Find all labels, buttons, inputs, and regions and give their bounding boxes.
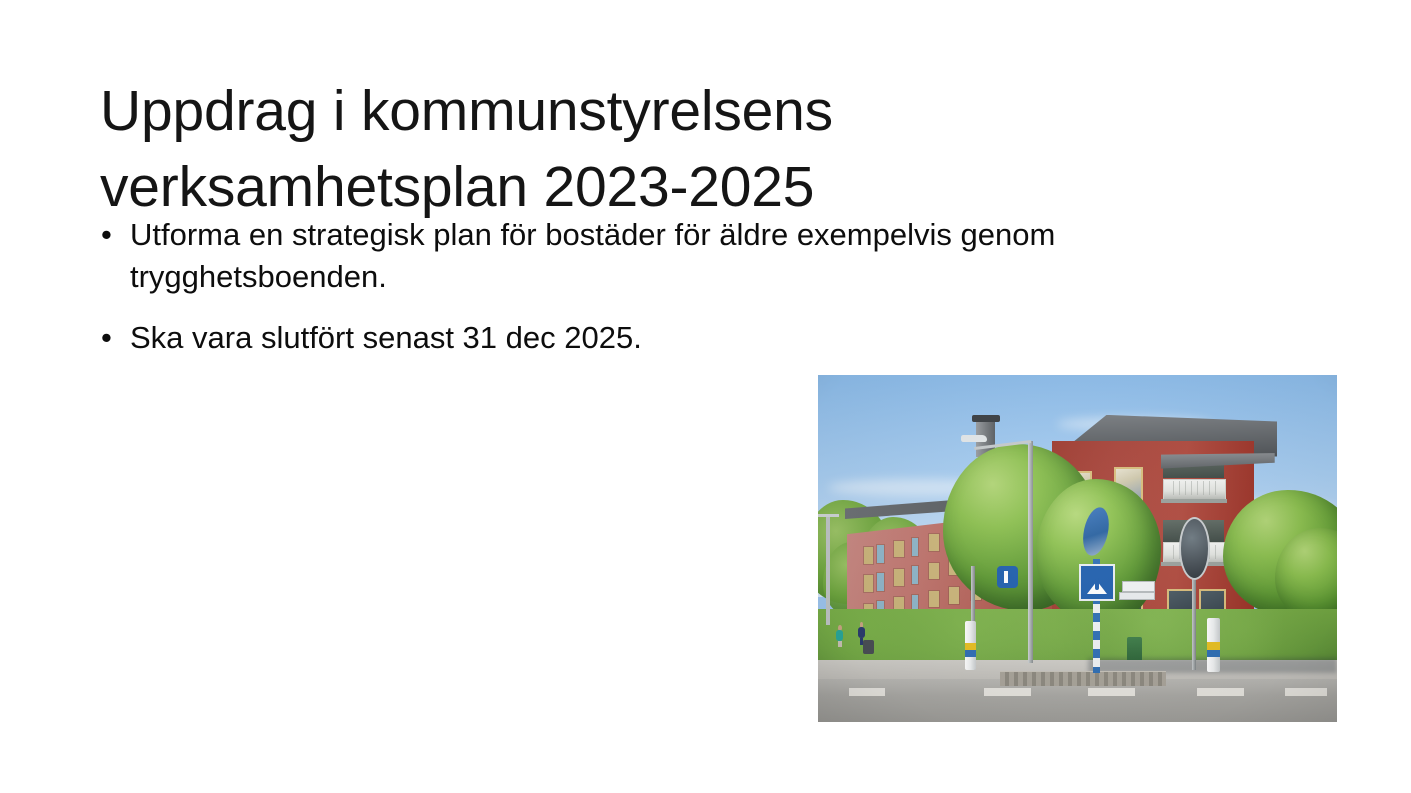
- photo-scene: [818, 375, 1337, 722]
- street-lamp-pole: [1028, 441, 1033, 663]
- bollard-band-yellow: [965, 643, 976, 650]
- slide-canvas: Uppdrag i kommunstyrelsens verksamhetspl…: [0, 0, 1411, 793]
- crosswalk-stripe: [1285, 688, 1327, 696]
- balcony-slab: [1161, 499, 1227, 503]
- crossing-sign-pedestrian: [1095, 578, 1099, 590]
- bullet-point-icon: •: [101, 317, 112, 359]
- pedestrian-refuge-island: [1000, 671, 1166, 686]
- bullet-list: • Utforma en strategisk plan för bostäde…: [97, 214, 1297, 359]
- crosswalk-stripe: [1088, 688, 1135, 696]
- street-name-sign: [1122, 581, 1156, 591]
- waste-bin: [1127, 637, 1143, 660]
- parking-sign-icon: [997, 566, 1019, 588]
- crosswalk-stripe: [849, 688, 885, 696]
- window: [864, 547, 873, 564]
- window: [864, 575, 873, 592]
- crosswalk-stripe: [984, 688, 1031, 696]
- bullet-text: Utforma en strategisk plan för bostäder …: [130, 214, 1297, 297]
- pedestrian-body: [836, 630, 843, 641]
- window: [929, 591, 939, 608]
- page-title: Uppdrag i kommunstyrelsens verksamhetspl…: [100, 74, 1240, 226]
- bollard-band-blue: [965, 650, 976, 657]
- hedge: [818, 609, 1337, 665]
- pedestrian-crossing-sign-icon: [1079, 564, 1115, 600]
- pedestrian-legs: [838, 641, 842, 648]
- list-item: • Utforma en strategisk plan för bostäde…: [97, 214, 1297, 297]
- window: [877, 545, 884, 563]
- street-lamp-pole: [826, 514, 830, 625]
- building-photograph: [818, 375, 1337, 722]
- bullet-text: Ska vara slutfört senast 31 dec 2025.: [130, 317, 1297, 359]
- window: [949, 587, 959, 604]
- pedestrian-body: [858, 627, 865, 638]
- traffic-mirror-icon: [1179, 517, 1210, 579]
- bollard: [1207, 618, 1219, 672]
- street-name-sign: [1119, 592, 1155, 600]
- window: [929, 563, 939, 580]
- chimney-cap: [972, 415, 1000, 422]
- bollard-band-blue: [1207, 650, 1219, 658]
- crosswalk-stripe: [1197, 688, 1244, 696]
- window: [912, 566, 919, 584]
- pedestrian: [836, 625, 844, 648]
- balcony-railing: [1168, 481, 1221, 495]
- street-lamp-head: [961, 435, 987, 442]
- window: [894, 569, 904, 586]
- window: [894, 541, 904, 558]
- street-lamp-arm: [818, 514, 839, 516]
- bollard: [965, 621, 976, 670]
- bollard-band-yellow: [1207, 642, 1219, 650]
- window: [877, 573, 884, 591]
- balcony: [1163, 479, 1226, 501]
- window: [912, 538, 919, 556]
- walker-stroller: [863, 640, 874, 654]
- bullet-point-icon: •: [101, 214, 112, 256]
- window: [929, 534, 939, 551]
- list-item: • Ska vara slutfört senast 31 dec 2025.: [97, 317, 1297, 359]
